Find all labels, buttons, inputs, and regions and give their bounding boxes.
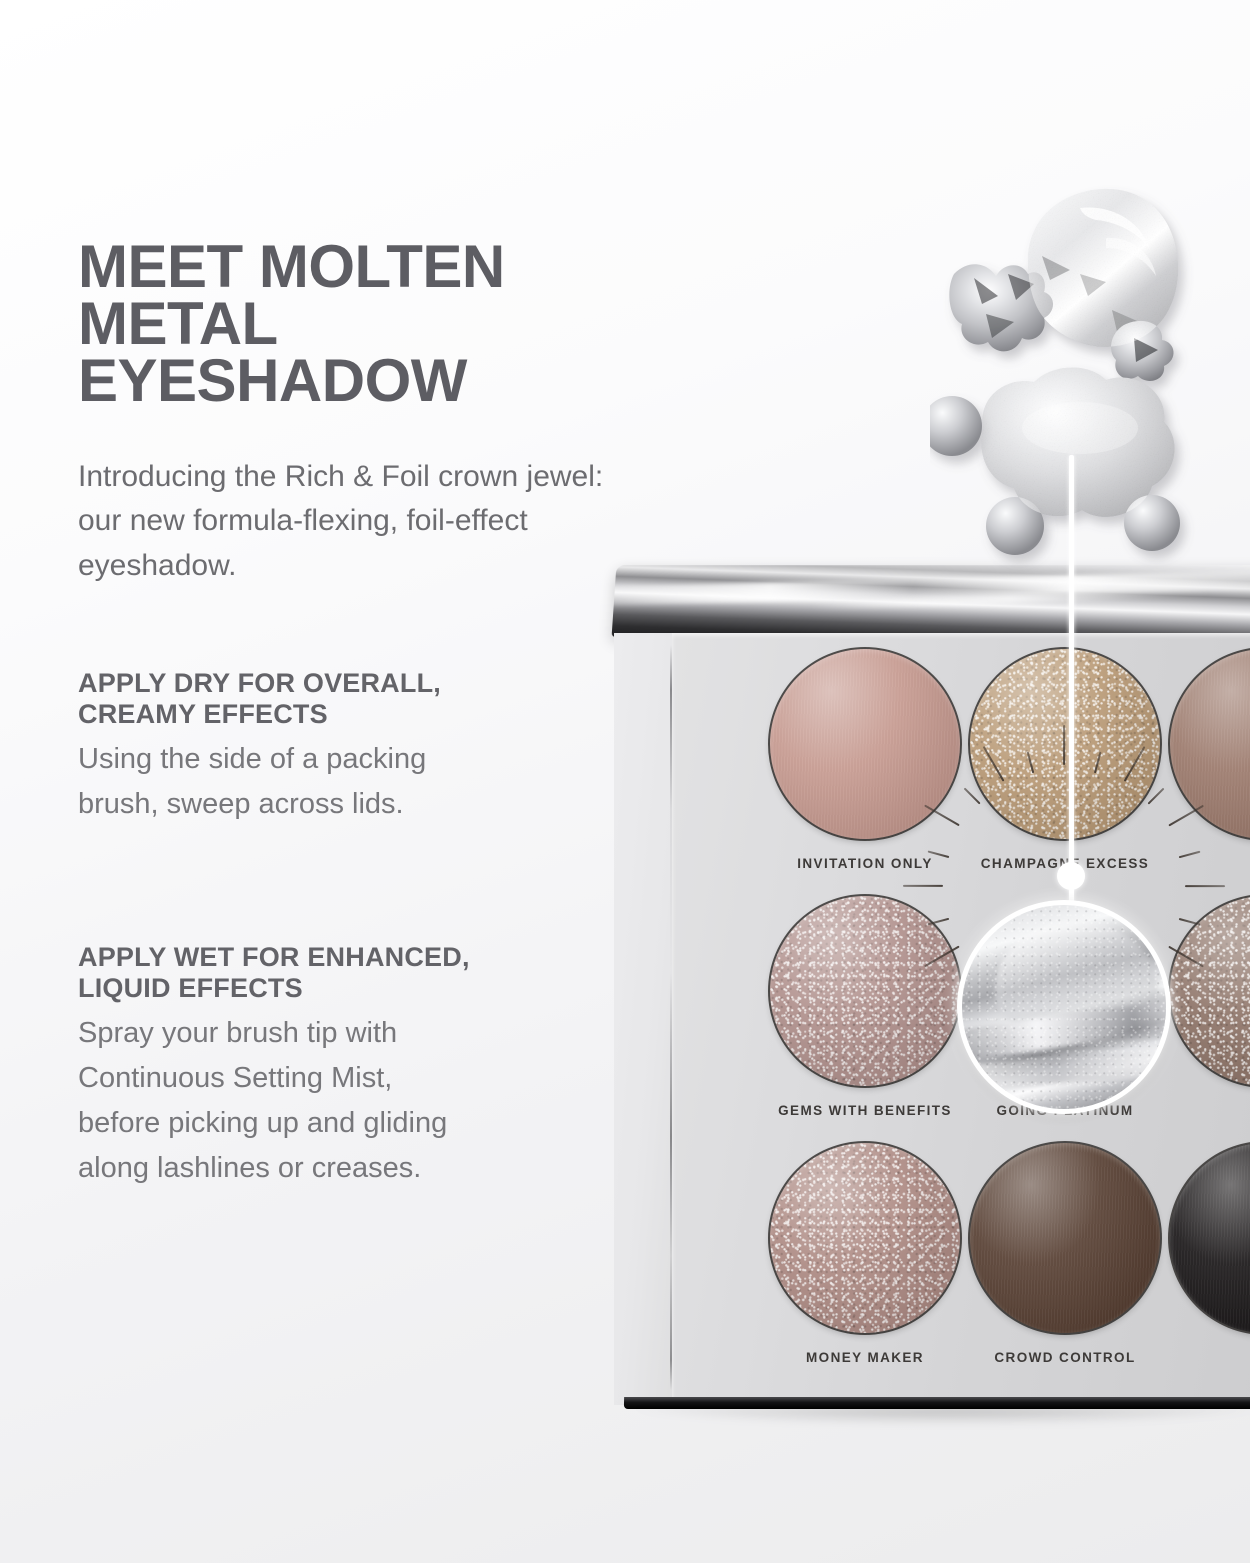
- pan-label: GEMS WITH BENEFITS: [765, 1103, 965, 1118]
- palette-drop-shadow: [632, 1407, 1250, 1425]
- highlighted-pan-foil-surface: [957, 900, 1171, 1114]
- subheadline-line-2: our new formula-flexing, foil-effect eye…: [78, 499, 678, 588]
- feature-apply-wet-body-line-1: Spray your brush tip with: [78, 1011, 638, 1056]
- feature-apply-wet-body-line-4: along lashlines or creases.: [78, 1146, 638, 1191]
- pan-cell[interactable]: [1165, 896, 1250, 1103]
- pan-cell[interactable]: GEMS WITH BENEFITS: [765, 896, 965, 1118]
- foil-grain-texture: [962, 905, 1166, 1109]
- pan-cell[interactable]: CROWD CONTROL: [965, 1143, 1165, 1365]
- product-marketing-panel: MEET MOLTEN METAL EYESHADOW Introducing …: [0, 0, 1250, 1563]
- pan-sheen: [770, 896, 960, 1086]
- feature-apply-dry-body-line-2: brush, sweep across lids.: [78, 782, 638, 827]
- feature-apply-wet-title-line-2: LIQUID EFFECTS: [78, 973, 638, 1004]
- pan-cell[interactable]: [1165, 649, 1250, 856]
- headline-line-2: EYESHADOW: [78, 352, 678, 409]
- feature-apply-wet-title: APPLY WET FOR ENHANCED, LIQUID EFFECTS: [78, 942, 638, 1005]
- subheadline-line-1: Introducing the Rich & Foil crown jewel:: [78, 455, 678, 499]
- headline-line-1: MEET MOLTEN METAL: [78, 238, 678, 352]
- pan-cell[interactable]: INVITATION ONLY: [765, 649, 965, 871]
- feature-apply-dry-body-line-1: Using the side of a packing: [78, 737, 638, 782]
- molten-metal-silver-swatch: [930, 178, 1250, 578]
- pan-swatch[interactable]: [1170, 1143, 1250, 1333]
- subheadline: Introducing the Rich & Foil crown jewel:…: [78, 455, 678, 588]
- pan-cell[interactable]: CHAMPAGNE EXCESS: [965, 649, 1165, 871]
- feature-apply-dry-title-line-1: APPLY DRY FOR OVERALL,: [78, 668, 638, 699]
- swatch-svg: [930, 178, 1250, 578]
- pan-swatch[interactable]: [1170, 649, 1250, 839]
- swatch-connector-dot: [1057, 862, 1085, 890]
- pan-label: INVITATION ONLY: [765, 856, 965, 871]
- highlighted-pan-going-platinum[interactable]: [957, 900, 1171, 1114]
- feature-apply-wet-title-line-1: APPLY WET FOR ENHANCED,: [78, 942, 638, 973]
- feature-apply-wet-body-line-2: Continuous Setting Mist,: [78, 1056, 638, 1101]
- page-title: MEET MOLTEN METAL EYESHADOW: [78, 238, 678, 409]
- feature-apply-wet-body-line-3: before picking up and gliding: [78, 1101, 638, 1146]
- pan-swatch[interactable]: [770, 1143, 960, 1333]
- pan-sheen: [1170, 896, 1250, 1086]
- feature-apply-wet: APPLY WET FOR ENHANCED, LIQUID EFFECTS S…: [78, 942, 638, 1192]
- lid-sheen: [812, 587, 1208, 609]
- feature-apply-dry: APPLY DRY FOR OVERALL, CREAMY EFFECTS Us…: [78, 668, 638, 827]
- pan-label: CROWD CONTROL: [965, 1350, 1165, 1365]
- pan-sheen: [1170, 649, 1250, 839]
- pan-sheen: [770, 1143, 960, 1333]
- pan-swatch[interactable]: [770, 649, 960, 839]
- pan-sheen: [1170, 1143, 1250, 1333]
- feature-apply-dry-body: Using the side of a packing brush, sweep…: [78, 737, 638, 827]
- pan-swatch[interactable]: [970, 649, 1160, 839]
- pan-sheen: [970, 1143, 1160, 1333]
- pan-swatch[interactable]: [970, 1143, 1160, 1333]
- pan-cell[interactable]: [1165, 1143, 1250, 1350]
- feature-apply-dry-title-line-2: CREAMY EFFECTS: [78, 699, 638, 730]
- pan-cell[interactable]: MONEY MAKER: [765, 1143, 965, 1365]
- pan-sheen: [770, 649, 960, 839]
- pan-sheen: [970, 649, 1160, 839]
- pan-swatch[interactable]: [770, 896, 960, 1086]
- feature-apply-dry-title: APPLY DRY FOR OVERALL, CREAMY EFFECTS: [78, 668, 638, 731]
- pan-label: MONEY MAKER: [765, 1350, 965, 1365]
- swatch-bead-left: [930, 396, 982, 456]
- feature-apply-wet-body: Spray your brush tip with Continuous Set…: [78, 1011, 638, 1192]
- swatch-connector-line: [1069, 455, 1074, 903]
- pan-swatch[interactable]: [1170, 896, 1250, 1086]
- headline-block: MEET MOLTEN METAL EYESHADOW Introducing …: [78, 238, 678, 588]
